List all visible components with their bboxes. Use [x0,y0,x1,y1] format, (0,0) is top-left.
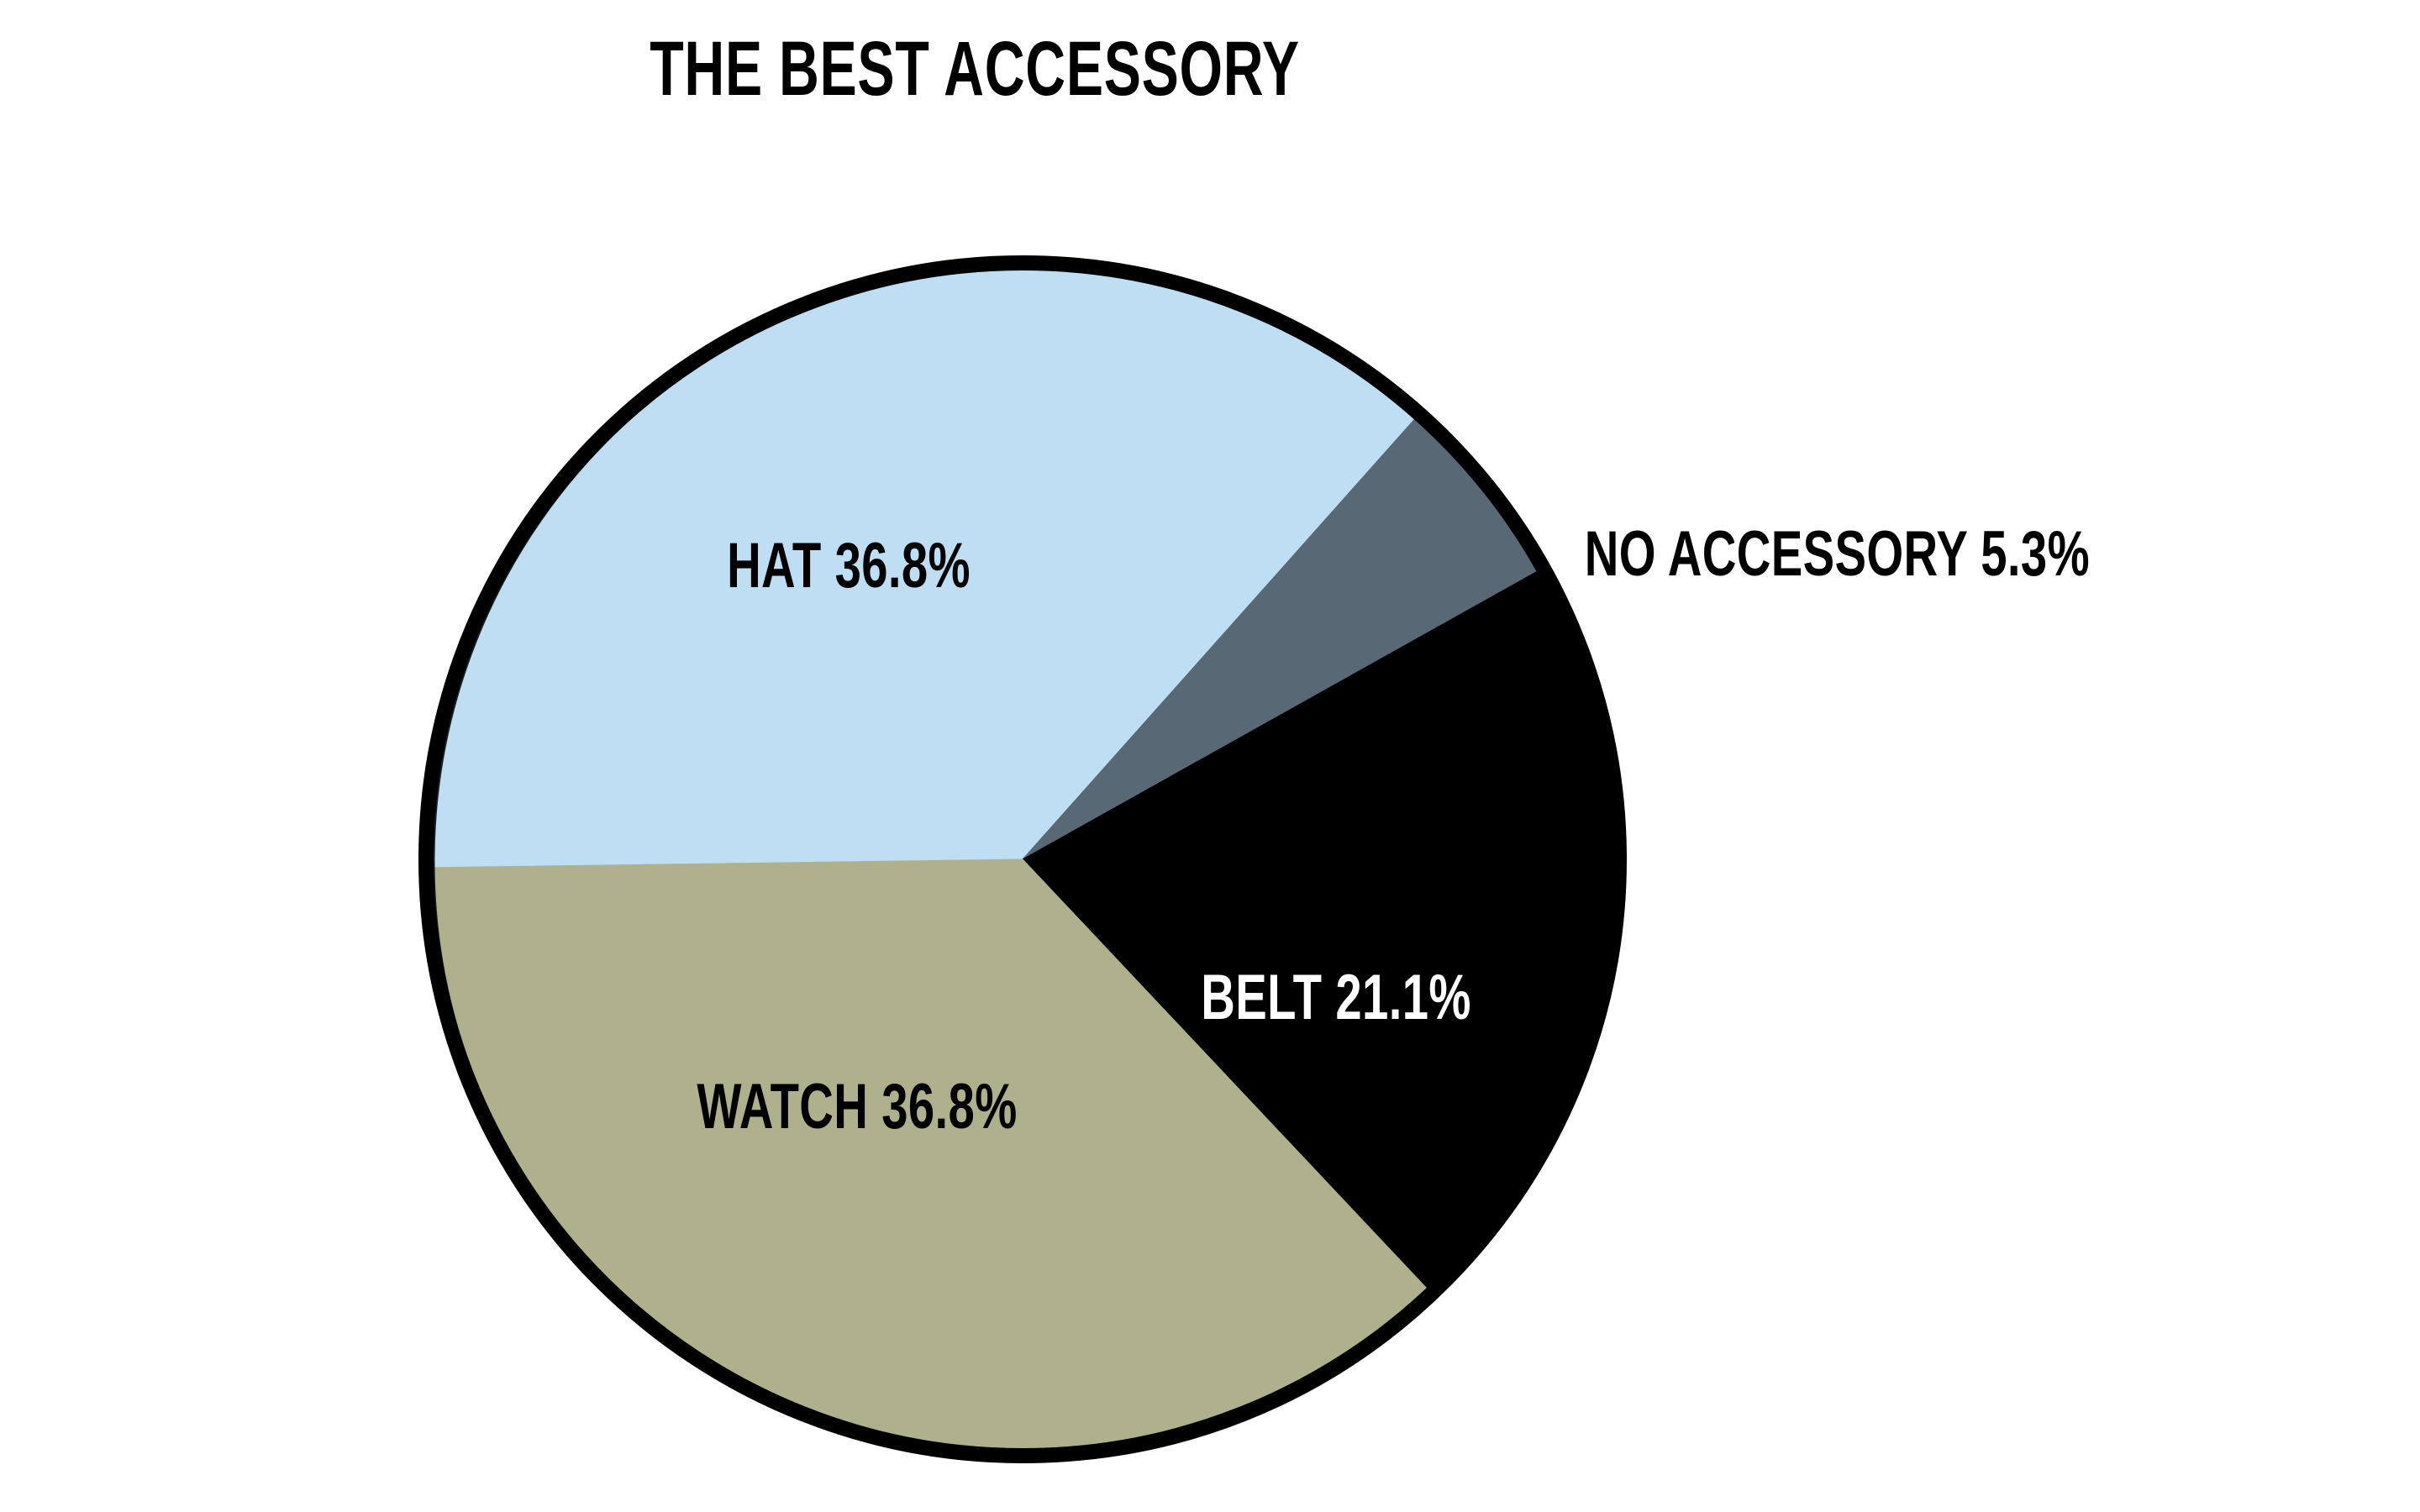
chart-canvas: THE BEST ACCESSORY HAT 36.8% NO ACCESSOR… [0,0,2420,1512]
pie-chart: HAT 36.8% NO ACCESSORY 5.3% BELT 21.1% W… [0,0,2420,1512]
slice-label-belt: BELT 21.1% [1144,966,1529,1030]
pie-slice-group [429,266,1616,1452]
slice-label-no-accessory: NO ACCESSORY 5.3% [1479,522,2163,586]
pie-svg [0,0,2420,1512]
slice-label-watch: WATCH 36.8% [583,1075,1130,1139]
slice-label-hat: HAT 36.8% [631,534,1066,598]
